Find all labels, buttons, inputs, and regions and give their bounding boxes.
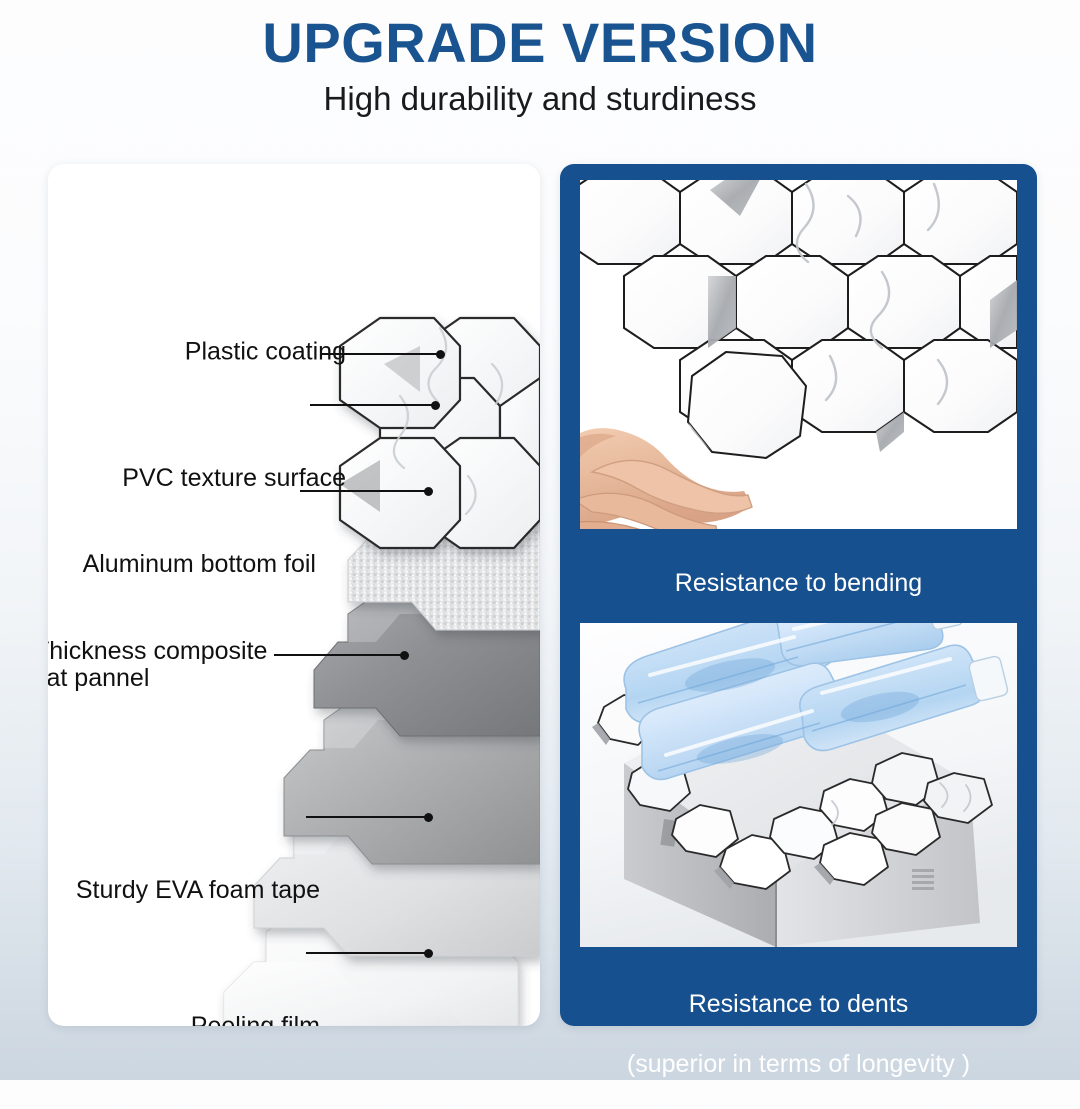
callout-leader-line <box>306 952 428 954</box>
callout-thickness-composite-flat-pannel: Thickness composite flat pannel <box>48 654 468 726</box>
callout-pvc-texture-surface: PVC texture surface <box>48 404 468 476</box>
layer-structure-card: PVC texture surface Plastic coating Alum… <box>48 164 540 1026</box>
feature-photo-column: Resistance to bending (Solid and not eas… <box>560 164 1037 1026</box>
callout-leader-line <box>274 654 404 656</box>
page-title: UPGRADE VERSION <box>0 0 1080 73</box>
bending-feature-panel: Resistance to bending (Solid and not eas… <box>560 164 1037 607</box>
dents-caption-line1: Resistance to dents <box>560 989 1037 1019</box>
callout-leader-line <box>306 816 428 818</box>
bottles-on-tile-photo <box>580 623 1017 947</box>
dents-feature-panel: Resistance to dents (superior in terms o… <box>560 607 1037 1026</box>
callout-label-peeling-film: Peeling film <box>191 1013 320 1027</box>
dents-caption: Resistance to dents (superior in terms o… <box>560 959 1037 1109</box>
callout-anchor-dot <box>400 651 409 660</box>
bending-caption-line1: Resistance to bending <box>560 568 1037 598</box>
callout-label-pvc-texture-surface: PVC texture surface <box>122 465 346 492</box>
dents-caption-line2: (superior in terms of longevity ) <box>560 1049 1037 1079</box>
header: UPGRADE VERSION High durability and stur… <box>0 0 1080 150</box>
callout-leader-line <box>300 490 428 492</box>
callout-anchor-dot <box>424 487 433 496</box>
water-bottles-resting-on-hexagon-tile <box>580 623 1017 947</box>
callout-leader-line <box>322 353 440 355</box>
callout-peeling-film: Peeling film <box>48 952 468 1024</box>
callout-aluminum-bottom-foil: Aluminum bottom foil <box>48 490 468 562</box>
callout-anchor-dot <box>424 949 433 958</box>
callout-anchor-dot <box>436 350 445 359</box>
callout-label-thickness-composite-flat-pannel: Thickness composite flat pannel <box>48 638 274 692</box>
callout-label-aluminum-bottom-foil: Aluminum bottom foil <box>83 551 316 578</box>
callout-sturdy-eva-foam-tape: Sturdy EVA foam tape <box>48 816 468 888</box>
hand-bending-tile-photo <box>580 180 1017 529</box>
page-subtitle: High durability and sturdiness <box>0 73 1080 117</box>
callout-anchor-dot <box>424 813 433 822</box>
callout-label-sturdy-eva-foam-tape: Sturdy EVA foam tape <box>76 877 320 904</box>
callout-plastic-coating-leader <box>48 353 468 407</box>
hand-holding-hexagon-tile-sheet <box>580 180 1017 529</box>
